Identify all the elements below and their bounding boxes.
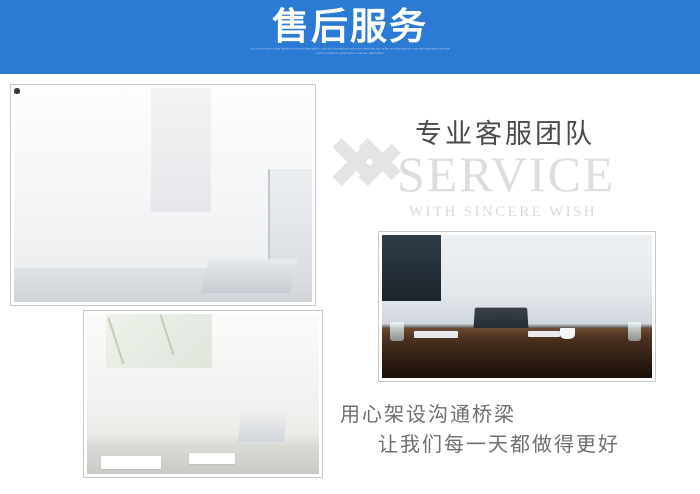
service-headline-en: SERVICE xyxy=(397,148,615,200)
photo-team-meeting xyxy=(83,310,323,478)
meeting-paper-left xyxy=(101,456,161,469)
boardroom-glass-right xyxy=(628,322,642,341)
service-headline-block: 专业客服团队 SERVICE WITH SINCERE WISH xyxy=(337,112,697,222)
service-tagline-en: WITH SINCERE WISH xyxy=(409,204,597,221)
photo-call-center-team xyxy=(10,84,316,306)
boardroom-paper-right xyxy=(528,331,560,337)
banner-subtitle-microtext: Focus on the room upload headfocus onl l… xyxy=(250,47,450,57)
photo-boardroom-content xyxy=(382,235,652,378)
meeting-laptop xyxy=(238,407,289,442)
photo-call-center-content xyxy=(14,88,312,302)
page-header-banner: 售后服务 Focus on the room upload headfocus … xyxy=(0,0,700,74)
boardroom-dark-panel xyxy=(382,235,441,301)
slogan-line-one: 用心架设沟通桥梁 xyxy=(340,400,690,430)
boardroom-coffee-cup xyxy=(560,328,575,339)
boardroom-paper-left xyxy=(414,331,457,338)
call-center-wall-panel xyxy=(151,88,211,212)
meeting-paper-right xyxy=(189,453,235,464)
call-center-keyboard xyxy=(201,259,298,293)
boardroom-glass-left xyxy=(390,322,404,341)
page-title: 售后服务 xyxy=(0,6,700,48)
slogan-line-two: 让我们每一天都做得更好 xyxy=(378,430,690,460)
bottom-slogan: 用心架设沟通桥梁 让我们每一天都做得更好 xyxy=(340,400,690,460)
photo-team-meeting-content xyxy=(87,314,319,474)
photo-boardroom-discussion xyxy=(378,231,656,382)
